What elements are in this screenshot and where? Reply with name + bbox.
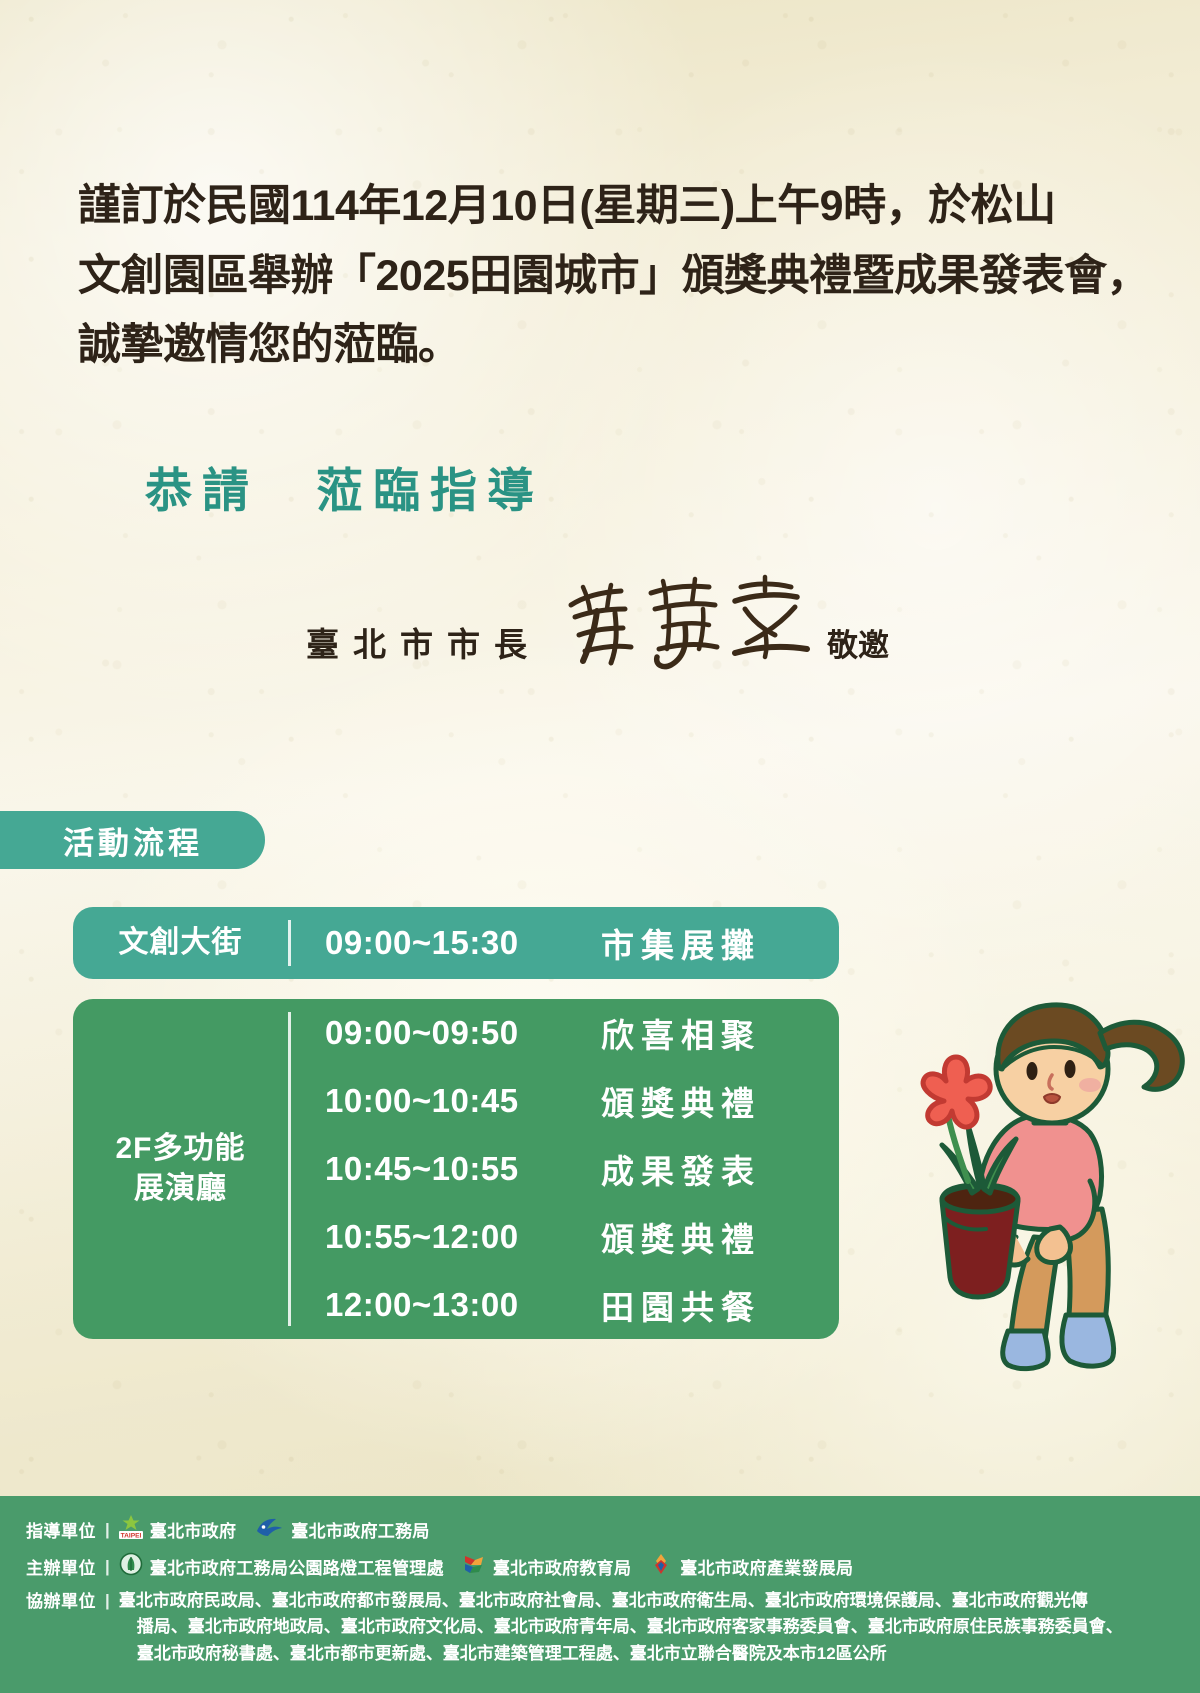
svg-text:TAIPEI: TAIPEI — [120, 1532, 141, 1539]
girl-carrying-flowerpot-illustration — [838, 975, 1198, 1375]
org-name: 臺北市政府產業發展局 — [680, 1554, 853, 1579]
schedule-time: 12:00~13:00 — [325, 1286, 601, 1324]
co-organizers-line-1: 臺北市政府民政局、臺北市政府都市發展局、臺北市政府社會局、臺北市政府衛生局、臺北… — [119, 1588, 1174, 1614]
org-parks-lighting: 臺北市政府工務局公園路燈工程管理處 — [119, 1552, 444, 1581]
education-bureau-logo-icon — [462, 1552, 486, 1581]
parks-lighting-logo-icon — [119, 1552, 143, 1581]
salutation-heading: 恭請 蒞臨指導 — [145, 452, 544, 521]
schedule-time: 10:00~10:45 — [325, 1082, 601, 1120]
co-organizers-line-2: 播局、臺北市政府地政局、臺北市政府文化局、臺北市政府青年局、臺北市政府客家事務委… — [119, 1614, 1174, 1640]
co-organizers-line-3: 臺北市政府秘書處、臺北市都市更新處、臺北市建築管理工程處、臺北市立聯合醫院及本市… — [119, 1641, 1174, 1667]
org-name: 臺北市政府工務局 — [291, 1517, 429, 1542]
schedule-item: 09:00~09:50 欣喜相聚 — [325, 999, 839, 1067]
schedule-row-2f-hall: 2F多功能 展演廳 09:00~09:50 欣喜相聚 10:00~10:45 頒… — [73, 999, 839, 1339]
invitation-line-3: 誠摯邀情您的蒞臨。 — [78, 311, 1088, 381]
schedule-time: 09:00~09:50 — [325, 1014, 601, 1052]
schedule-item: 10:55~12:00 頒獎典禮 — [325, 1203, 839, 1271]
public-works-logo-icon — [254, 1514, 284, 1545]
co-organizers-list: 臺北市政府民政局、臺北市政府都市發展局、臺北市政府社會局、臺北市政府衛生局、臺北… — [119, 1588, 1174, 1667]
org-education-bureau: 臺北市政府教育局 — [462, 1552, 631, 1581]
mayor-signature — [559, 565, 821, 670]
organizers-label: 主辦單位 — [26, 1554, 96, 1579]
credit-line-organizers: 主辦單位 | 臺北市政府工務局公園路燈工程管理處 臺 — [26, 1552, 1174, 1581]
schedule-item: 10:45~10:55 成果發表 — [325, 1135, 839, 1203]
venue-label-line-2: 展演廳 — [73, 1169, 288, 1210]
invitation-body: 謹訂於民國114年12月10日(星期三)上午9時，於松山 文創園區舉辦「2025… — [78, 172, 1088, 381]
schedule-activity: 市集展攤 — [601, 919, 761, 967]
honorific-label: 敬邀 — [827, 620, 889, 670]
co-organizers-label: 協辦單位 — [26, 1588, 96, 1667]
schedule-activity: 頒獎典禮 — [601, 1077, 761, 1125]
org-name: 臺北市政府教育局 — [493, 1554, 631, 1579]
credit-separator: | — [105, 1588, 110, 1667]
signature-block: 臺北市市長 — [306, 565, 889, 670]
credit-separator: | — [105, 1557, 110, 1577]
schedule-item: 10:00~10:45 頒獎典禮 — [325, 1067, 839, 1135]
credit-separator: | — [105, 1520, 110, 1540]
schedule-activity: 成果發表 — [601, 1145, 761, 1193]
invitation-line-1: 謹訂於民國114年12月10日(星期三)上午9時，於松山 — [78, 172, 1088, 242]
schedule-activity: 頒獎典禮 — [601, 1213, 761, 1261]
org-public-works: 臺北市政府工務局 — [254, 1514, 429, 1545]
credit-line-advisors: 指導單位 | TAIPEI 臺北市政府 臺北市政府工務局 — [26, 1514, 1174, 1545]
mayor-title: 臺北市市長 — [306, 618, 541, 670]
schedule-row-wenchuang-street: 文創大街 09:00~15:30 市集展攤 — [73, 907, 839, 979]
venue-label: 文創大街 — [73, 923, 288, 964]
schedule-item: 12:00~13:00 田園共餐 — [325, 1271, 839, 1339]
org-name: 臺北市政府 — [150, 1517, 237, 1542]
org-taipei-city: TAIPEI 臺北市政府 — [119, 1514, 237, 1545]
schedule-time: 10:55~12:00 — [325, 1218, 601, 1256]
venue-label: 2F多功能 展演廳 — [73, 1129, 288, 1210]
industry-development-logo-icon — [649, 1552, 673, 1581]
schedule-time: 10:45~10:55 — [325, 1150, 601, 1188]
venue-label-line-1: 2F多功能 — [73, 1129, 288, 1170]
schedule-items: 09:00~15:30 市集展攤 — [291, 919, 839, 967]
footer-credits: 指導單位 | TAIPEI 臺北市政府 臺北市政府工務局 主辦單位 — [0, 1496, 1200, 1693]
schedule-tab-label: 活動流程 — [63, 818, 203, 863]
schedule-section-tab: 活動流程 — [0, 811, 265, 869]
credit-line-co-organizers: 協辦單位 | 臺北市政府民政局、臺北市政府都市發展局、臺北市政府社會局、臺北市政… — [26, 1588, 1174, 1667]
taipei-city-logo-icon: TAIPEI — [119, 1514, 143, 1545]
org-name: 臺北市政府工務局公園路燈工程管理處 — [150, 1554, 444, 1579]
schedule-time: 09:00~15:30 — [325, 924, 601, 962]
schedule-activity: 田園共餐 — [601, 1281, 761, 1329]
advisors-label: 指導單位 — [26, 1517, 96, 1542]
invitation-line-2: 文創園區舉辦「2025田園城市」頒獎典禮暨成果發表會， — [78, 242, 1088, 312]
schedule-item: 09:00~15:30 市集展攤 — [325, 919, 839, 967]
schedule-activity: 欣喜相聚 — [601, 1009, 761, 1057]
schedule-items: 09:00~09:50 欣喜相聚 10:00~10:45 頒獎典禮 10:45~… — [291, 999, 839, 1339]
org-industry-development: 臺北市政府產業發展局 — [649, 1552, 853, 1581]
